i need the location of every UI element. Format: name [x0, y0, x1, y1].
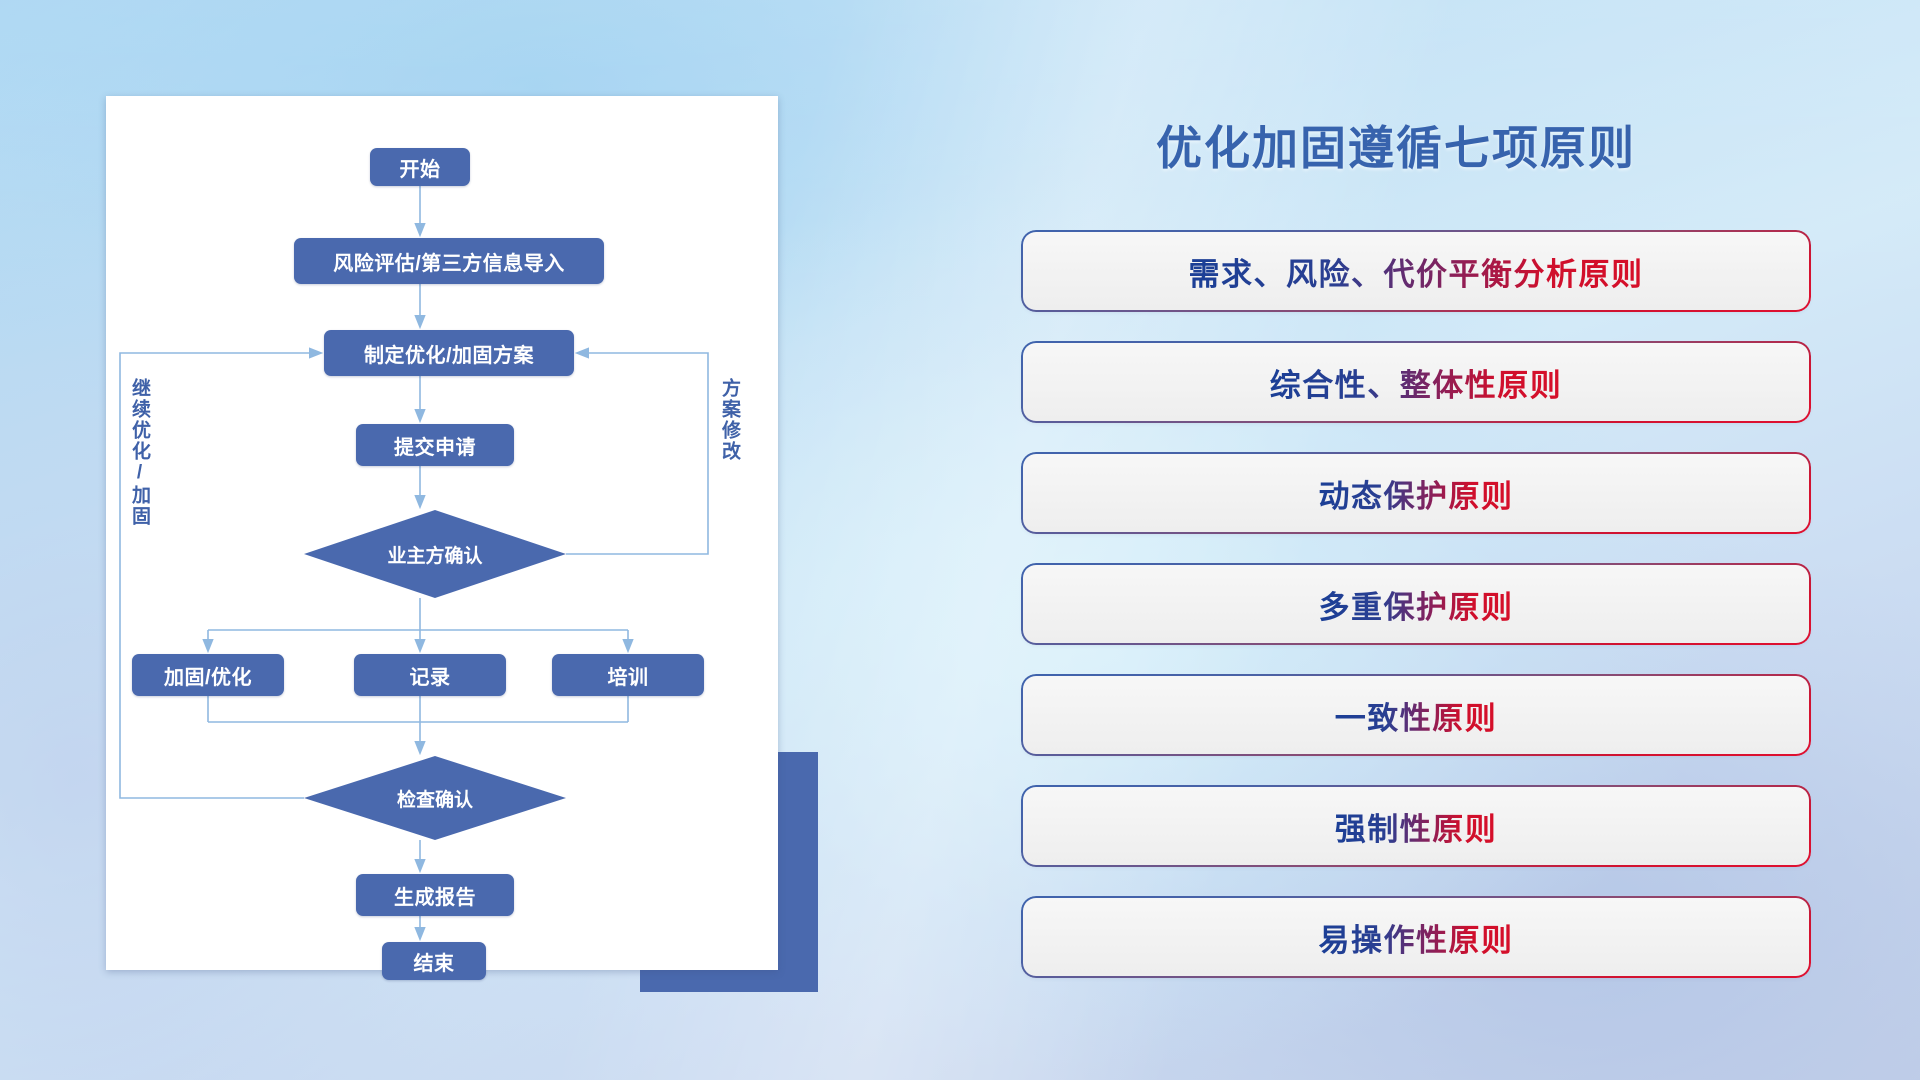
flow-node-plan-label: 制定优化/加固方案 — [324, 330, 574, 376]
flow-node-training[interactable]: 培训 — [552, 654, 704, 696]
flow-node-reinforce-optimize[interactable]: 加固/优化 — [132, 654, 284, 696]
flow-node-plan[interactable]: 制定优化/加固方案 — [324, 330, 574, 376]
flowchart-panel: 开始 风险评估/第三方信息导入 制定优化/加固方案 提交申请 业主方确认 加固/… — [106, 96, 778, 970]
flow-node-start-label: 开始 — [370, 148, 470, 186]
principle-card-label: 一致性原则 — [1335, 693, 1498, 738]
principle-card[interactable]: 易操作性原则 — [1023, 898, 1809, 976]
flow-node-risk-assessment[interactable]: 风险评估/第三方信息导入 — [294, 238, 604, 284]
principle-card-label: 综合性、整体性原则 — [1270, 360, 1563, 405]
principle-card[interactable]: 动态保护原则 — [1023, 454, 1809, 532]
flow-node-risk-assessment-label: 风险评估/第三方信息导入 — [294, 238, 604, 284]
principle-card[interactable]: 综合性、整体性原则 — [1023, 343, 1809, 421]
diamond-shape-icon — [304, 756, 566, 840]
flow-node-submit-application[interactable]: 提交申请 — [356, 424, 514, 466]
principles-title: 优化加固遵循七项原则 — [1156, 112, 1636, 178]
flow-node-training-label: 培训 — [552, 654, 704, 696]
flow-node-start[interactable]: 开始 — [370, 148, 470, 186]
principle-card[interactable]: 强制性原则 — [1023, 787, 1809, 865]
principle-card[interactable]: 多重保护原则 — [1023, 565, 1809, 643]
principles-list: 需求、风险、代价平衡分析原则 综合性、整体性原则 动态保护原则 多重保护原则 一… — [1023, 232, 1809, 1009]
principle-card-label: 需求、风险、代价平衡分析原则 — [1189, 249, 1644, 294]
flow-node-end[interactable]: 结束 — [382, 942, 486, 980]
flow-node-record[interactable]: 记录 — [354, 654, 506, 696]
flow-node-submit-application-label: 提交申请 — [356, 424, 514, 466]
flow-node-generate-report[interactable]: 生成报告 — [356, 874, 514, 916]
flow-node-reinforce-optimize-label: 加固/优化 — [132, 654, 284, 696]
principle-card-label: 多重保护原则 — [1319, 582, 1514, 627]
flow-node-inspection-confirmation[interactable]: 检查确认 — [304, 756, 566, 840]
flow-edge-label-continue-optimization: 继续优化/加固 — [130, 378, 149, 527]
principle-card-label: 动态保护原则 — [1319, 471, 1514, 516]
principle-card-label: 强制性原则 — [1335, 804, 1498, 849]
flow-edge-label-plan-revision: 方案修改 — [720, 378, 739, 462]
flow-node-generate-report-label: 生成报告 — [356, 874, 514, 916]
flow-node-end-label: 结束 — [382, 942, 486, 980]
flow-node-record-label: 记录 — [354, 654, 506, 696]
principle-card[interactable]: 一致性原则 — [1023, 676, 1809, 754]
principle-card[interactable]: 需求、风险、代价平衡分析原则 — [1023, 232, 1809, 310]
flow-node-owner-confirmation[interactable]: 业主方确认 — [304, 510, 566, 598]
diamond-shape-icon — [304, 510, 566, 598]
principle-card-label: 易操作性原则 — [1319, 915, 1514, 960]
